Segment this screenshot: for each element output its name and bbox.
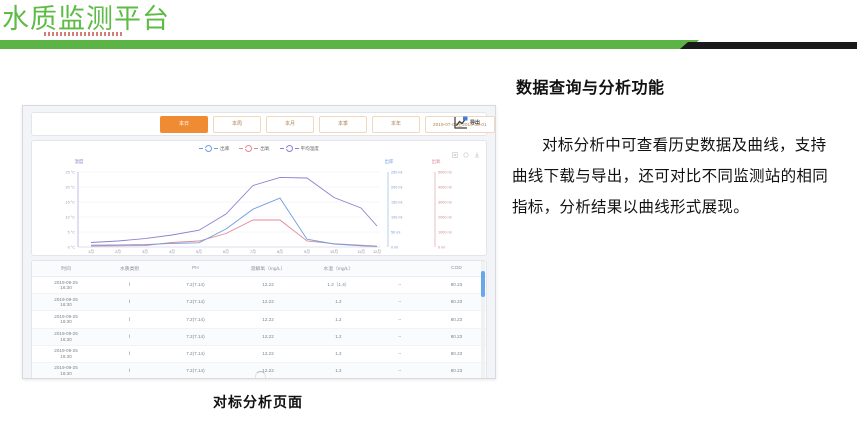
- cell-do: 12.22: [232, 345, 305, 362]
- col-do: 溶解氧（mg/L）: [232, 261, 305, 277]
- cell-do: 12.22: [232, 362, 305, 379]
- export-button[interactable]: 导出: [454, 116, 480, 129]
- cell-ph: 7.2(7.14): [159, 362, 232, 379]
- svg-text:2月: 2月: [115, 249, 121, 254]
- cell-time: 2019-09-25 16:30: [32, 311, 100, 328]
- chart-plot-area: 温度 出库 出氧 25 °C 20 °C: [32, 155, 486, 255]
- cell-blank: --: [372, 311, 426, 328]
- svg-text:出氧: 出氧: [432, 158, 441, 165]
- svg-text:温度: 温度: [75, 158, 84, 165]
- cell-category: Ⅰ: [100, 362, 159, 379]
- table-row[interactable]: 2019-09-25 16:30 Ⅰ 7.2(7.14) 12.22 1.2（1…: [32, 277, 486, 294]
- feature-description: 数据查询与分析功能 对标分析中可查看历史数据及曲线，支持曲线下载与导出，还可对比…: [512, 78, 842, 223]
- feature-heading: 数据查询与分析功能: [516, 78, 842, 100]
- cell-blank: --: [372, 362, 426, 379]
- svg-text:9月: 9月: [304, 249, 310, 254]
- legend-item-oxygen[interactable]: 出氧: [239, 145, 269, 152]
- legend-label: 出库: [220, 146, 229, 152]
- cell-blank: --: [372, 328, 426, 345]
- table-row[interactable]: 2019-09-25 16:30 Ⅰ 7.2(7.14) 12.22 1.2 -…: [32, 345, 486, 362]
- cell-ph: 7.2(7.14): [159, 311, 232, 328]
- header-accent-bar-green: [0, 40, 690, 49]
- screenshot-caption: 对标分析页面: [22, 392, 494, 412]
- cell-ph: 7.2(7.14): [159, 345, 232, 362]
- loading-spinner-icon: [255, 371, 266, 379]
- page-header: 水质监测平台: [0, 0, 857, 56]
- download-icon[interactable]: [474, 145, 480, 151]
- table-scrollbar-thumb[interactable]: [481, 271, 485, 297]
- cell-blank: --: [372, 294, 426, 311]
- col-ph: PH: [159, 261, 232, 277]
- cell-blank: --: [372, 345, 426, 362]
- cell-time: 2019-09-25 16:30: [32, 328, 100, 345]
- svg-text:25 °C: 25 °C: [65, 171, 75, 175]
- svg-text:3月: 3月: [142, 249, 148, 254]
- cell-category: Ⅰ: [100, 311, 159, 328]
- legend-item-outflow[interactable]: 出库: [199, 145, 229, 152]
- cell-temp: 1.2: [304, 311, 372, 328]
- svg-text:150 ml: 150 ml: [391, 201, 403, 205]
- cell-ph: 7.2(7.14): [159, 294, 232, 311]
- cell-cod: 80.23: [427, 311, 486, 328]
- cell-temp: 1.2: [304, 362, 372, 379]
- table-row[interactable]: 2019-09-25 16:30 Ⅰ 7.2(7.14) 12.22 1.2 -…: [32, 294, 486, 311]
- app-screenshot: 本日 本周 本月 本季 本年 2019-07-01至2019-08-01 导出: [22, 105, 496, 379]
- cell-time: 2019-09-25 16:30: [32, 277, 100, 294]
- svg-text:0 °C: 0 °C: [68, 246, 76, 250]
- cell-time: 2019-09-25 16:30: [32, 345, 100, 362]
- cell-blank: --: [372, 277, 426, 294]
- svg-text:7月: 7月: [250, 249, 256, 254]
- export-label: 导出: [470, 119, 480, 126]
- cell-time: 2019-09-25 16:30: [32, 362, 100, 379]
- cell-temp: 1.2: [304, 328, 372, 345]
- table-header-row: 时间 水质类别 PH 溶解氧（mg/L） 水温（mg/L） COD: [32, 261, 486, 277]
- cell-cod: 80.23: [427, 294, 486, 311]
- svg-text:20 °C: 20 °C: [65, 186, 75, 190]
- chart-legend: 出库 出氧 平均温度: [32, 145, 486, 152]
- cell-temp: 1.2（1.4）: [304, 277, 372, 294]
- time-range-week[interactable]: 本周: [213, 116, 261, 133]
- svg-text:100 ml: 100 ml: [391, 216, 403, 220]
- page-title: 水质监测平台: [2, 3, 170, 35]
- cell-cod: 80.23: [427, 362, 486, 379]
- time-range-button-group: 本日 本周 本月 本季 本年 2019-07-01至2019-08-01: [160, 116, 495, 133]
- cell-cod: 80.23: [427, 345, 486, 362]
- cell-category: Ⅰ: [100, 345, 159, 362]
- legend-label: 平均温度: [301, 146, 319, 152]
- col-blank: [372, 261, 426, 277]
- svg-text:15 °C: 15 °C: [65, 201, 75, 205]
- history-data-table: 时间 水质类别 PH 溶解氧（mg/L） 水温（mg/L） COD 2019-0…: [32, 261, 486, 379]
- cell-temp: 1.2: [304, 294, 372, 311]
- time-range-quarter[interactable]: 本季: [319, 116, 367, 133]
- col-time: 时间: [32, 261, 100, 277]
- table-row[interactable]: 2019-09-25 16:30 Ⅰ 7.2(7.14) 12.22 1.2 -…: [32, 328, 486, 345]
- header-accent-bar-black: [688, 42, 857, 49]
- svg-text:出库: 出库: [385, 158, 394, 165]
- svg-text:0 ml: 0 ml: [391, 246, 398, 250]
- time-range-month[interactable]: 本月: [266, 116, 314, 133]
- feature-body: 对标分析中可查看历史数据及曲线，支持曲线下载与导出，还可对比不同监测站的相同指标…: [512, 130, 842, 223]
- table-body: 2019-09-25 16:30 Ⅰ 7.2(7.14) 12.22 1.2（1…: [32, 277, 486, 380]
- data-view-icon[interactable]: [452, 145, 458, 151]
- trend-chart-card: 出库 出氧 平均温度: [31, 140, 487, 256]
- spellcheck-squiggle: [44, 32, 124, 36]
- cell-category: Ⅰ: [100, 294, 159, 311]
- line-chart-svg: 温度 出库 出氧 25 °C 20 °C: [32, 155, 488, 255]
- cell-temp: 1.2: [304, 345, 372, 362]
- col-cod: COD: [427, 261, 486, 277]
- svg-text:11月: 11月: [357, 249, 365, 254]
- col-temp: 水温（mg/L）: [304, 261, 372, 277]
- history-data-table-card: 时间 水质类别 PH 溶解氧（mg/L） 水温（mg/L） COD 2019-0…: [31, 260, 487, 379]
- svg-text:1000 ml: 1000 ml: [438, 231, 452, 235]
- svg-text:250 ml: 250 ml: [391, 171, 403, 175]
- query-toolbar: 本日 本周 本月 本季 本年 2019-07-01至2019-08-01 导出: [31, 112, 487, 136]
- cell-category: Ⅰ: [100, 328, 159, 345]
- cell-cod: 80.23: [427, 277, 486, 294]
- cell-cod: 80.23: [427, 328, 486, 345]
- svg-text:50 ml: 50 ml: [391, 231, 400, 235]
- restore-icon[interactable]: [463, 145, 469, 151]
- svg-text:200 ml: 200 ml: [391, 186, 403, 190]
- cell-do: 12.22: [232, 294, 305, 311]
- svg-text:3000 ml: 3000 ml: [438, 201, 452, 205]
- cell-do: 12.22: [232, 311, 305, 328]
- svg-text:2000 ml: 2000 ml: [438, 216, 452, 220]
- cell-category: Ⅰ: [100, 277, 159, 294]
- svg-text:4000 ml: 4000 ml: [438, 186, 452, 190]
- svg-text:10 °C: 10 °C: [65, 216, 75, 220]
- cell-time: 2019-09-25 16:30: [32, 294, 100, 311]
- chart-toolbox: [452, 145, 480, 151]
- svg-text:5月: 5月: [196, 249, 202, 254]
- svg-text:6月: 6月: [223, 249, 229, 254]
- cell-do: 12.22: [232, 277, 305, 294]
- legend-item-avg-temp[interactable]: 平均温度: [280, 145, 319, 152]
- svg-text:4月: 4月: [169, 249, 175, 254]
- svg-text:12月: 12月: [373, 249, 381, 254]
- legend-label: 出氧: [260, 146, 269, 152]
- svg-text:1月: 1月: [88, 249, 94, 254]
- svg-text:5 °C: 5 °C: [68, 231, 76, 235]
- svg-text:8月: 8月: [277, 249, 283, 254]
- export-chart-icon: [454, 116, 468, 129]
- svg-text:5000 ml: 5000 ml: [438, 171, 452, 175]
- svg-text:10月: 10月: [330, 249, 338, 254]
- svg-text:0 ml: 0 ml: [438, 246, 445, 250]
- time-range-year[interactable]: 本年: [372, 116, 420, 133]
- cell-ph: 7.2(7.14): [159, 277, 232, 294]
- table-row[interactable]: 2019-09-25 16:30 Ⅰ 7.2(7.14) 12.22 1.2 -…: [32, 311, 486, 328]
- time-range-day[interactable]: 本日: [160, 116, 208, 133]
- cell-do: 12.22: [232, 328, 305, 345]
- col-category: 水质类别: [100, 261, 159, 277]
- cell-ph: 7.2(7.14): [159, 328, 232, 345]
